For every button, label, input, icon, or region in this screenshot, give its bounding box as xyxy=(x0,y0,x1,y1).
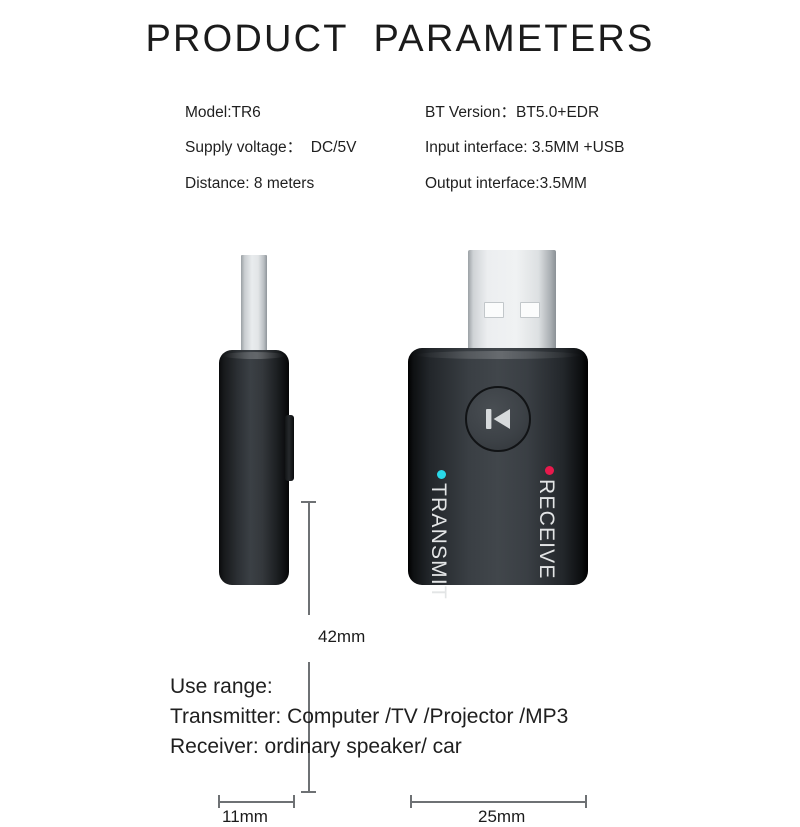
dimension-line xyxy=(218,801,294,803)
dimension-tick xyxy=(293,795,295,808)
dimension-tick xyxy=(585,795,587,808)
spec-distance: Distance: 8 meters xyxy=(185,174,425,193)
spec-row: Supply voltage： DC/5V Input interface: 3… xyxy=(185,138,705,157)
spec-row: Distance: 8 meters Output interface:3.5M… xyxy=(185,174,705,193)
product-illustration: TRANSMIT RECEIVE 42mm 11mm 25mm xyxy=(0,230,800,610)
receive-label: RECEIVE xyxy=(534,479,558,580)
use-range-transmitter: Transmitter: Computer /TV /Projector /MP… xyxy=(170,702,730,732)
spec-model: Model:TR6 xyxy=(185,103,425,122)
spec-output-interface: Output interface:3.5MM xyxy=(425,174,705,193)
spec-bt-version: BT Version：BT5.0+EDR xyxy=(425,103,705,122)
product-side-view xyxy=(205,255,315,585)
use-range-heading: Use range: xyxy=(170,672,730,702)
skip-back-icon xyxy=(483,406,513,432)
usb-notch-right xyxy=(520,302,540,318)
dimension-line xyxy=(410,801,586,803)
usb-connector-icon xyxy=(241,255,267,365)
dimension-line xyxy=(308,502,310,615)
use-range-block: Use range: Transmitter: Computer /TV /Pr… xyxy=(170,672,730,762)
receive-led-indicator xyxy=(545,466,554,475)
dimension-label-height: 42mm xyxy=(318,627,365,647)
transmit-led-indicator xyxy=(437,470,446,479)
spec-row: Model:TR6 BT Version：BT5.0+EDR xyxy=(185,103,705,122)
dimension-label-thickness: 11mm xyxy=(222,807,268,827)
dimension-tick xyxy=(410,795,412,808)
usb-connector-icon xyxy=(468,250,556,360)
use-range-receiver: Receiver: ordinary speaker/ car xyxy=(170,732,730,762)
product-front-view: TRANSMIT RECEIVE xyxy=(408,250,588,585)
device-body-side xyxy=(219,350,289,585)
dimension-tick xyxy=(301,791,316,793)
mode-button[interactable] xyxy=(465,386,531,452)
dimension-tick xyxy=(218,795,220,808)
transmit-label: TRANSMIT xyxy=(426,483,450,600)
specifications-table: Model:TR6 BT Version：BT5.0+EDR Supply vo… xyxy=(185,103,705,209)
spec-input-interface: Input interface: 3.5MM +USB xyxy=(425,138,705,157)
usb-notch-left xyxy=(484,302,504,318)
side-button-protrusion xyxy=(285,415,294,481)
device-body-front: TRANSMIT RECEIVE xyxy=(408,348,588,585)
page-title: PRODUCT PARAMETERS xyxy=(0,18,800,61)
dimension-label-width: 25mm xyxy=(478,807,525,827)
spec-supply-voltage: Supply voltage： DC/5V xyxy=(185,138,425,157)
